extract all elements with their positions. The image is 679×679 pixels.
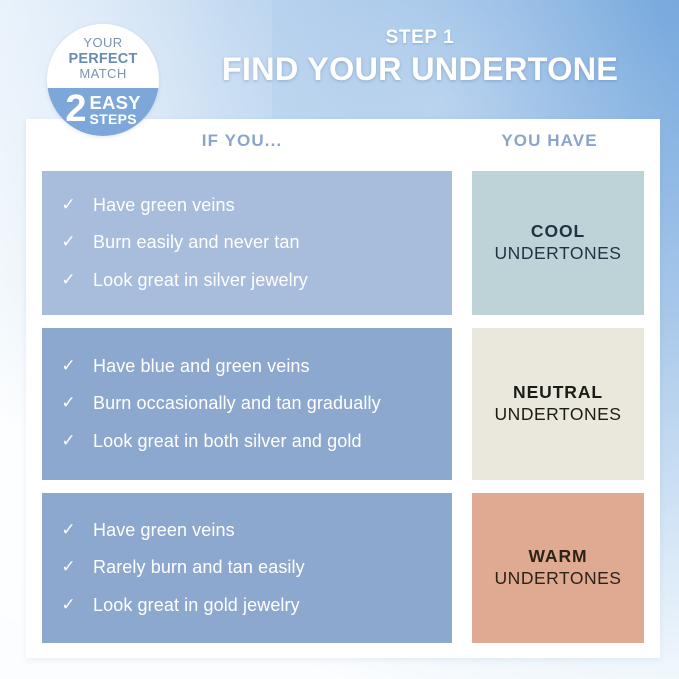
list-item-label: Burn occasionally and tan gradually <box>93 392 381 415</box>
page-title-block: STEP 1 FIND YOUR UNDERTONE <box>185 28 655 88</box>
check-icon: ✓ <box>60 231 77 252</box>
list-item: ✓ Look great in gold jewelry <box>60 587 436 624</box>
check-icon: ✓ <box>60 594 77 615</box>
badge-line-your: YOUR <box>83 36 122 51</box>
list-item: ✓ Rarely burn and tan easily <box>60 549 436 586</box>
badge-line-perfect: PERFECT <box>68 51 137 68</box>
list-item-label: Have green veins <box>93 194 235 217</box>
list-item: ✓ Have blue and green veins <box>60 348 436 385</box>
check-icon: ✓ <box>60 355 77 376</box>
swatch-sublabel: UNDERTONES <box>495 404 622 426</box>
list-item-label: Look great in gold jewelry <box>93 594 300 617</box>
badge-label-easy: EASY <box>89 94 140 112</box>
badge-easy-steps: EASY STEPS <box>89 94 140 127</box>
swatch-name: WARM <box>528 546 587 568</box>
list-item-label: Rarely burn and tan easily <box>93 556 305 579</box>
swatch-name: COOL <box>531 221 585 243</box>
check-icon: ✓ <box>60 430 77 451</box>
swatch-sublabel: UNDERTONES <box>495 568 622 590</box>
list-item: ✓ Burn occasionally and tan gradually <box>60 385 436 422</box>
list-item-label: Have blue and green veins <box>93 355 310 378</box>
list-item: ✓ Look great in silver jewelry <box>60 262 436 299</box>
undertone-swatch-warm: WARM UNDERTONES <box>472 493 644 643</box>
perfect-match-badge: YOUR PERFECT MATCH 2 EASY STEPS <box>47 24 159 136</box>
swatch-sublabel: UNDERTONES <box>495 243 622 265</box>
table-row: ✓ Have green veins ✓ Burn easily and nev… <box>42 171 644 315</box>
criteria-panel-cool: ✓ Have green veins ✓ Burn easily and nev… <box>42 171 452 315</box>
check-icon: ✓ <box>60 392 77 413</box>
list-item-label: Look great in silver jewelry <box>93 269 308 292</box>
table-row: ✓ Have blue and green veins ✓ Burn occas… <box>42 328 644 480</box>
check-icon: ✓ <box>60 269 77 290</box>
check-icon: ✓ <box>60 519 77 540</box>
list-item: ✓ Have green veins <box>60 512 436 549</box>
criteria-panel-warm: ✓ Have green veins ✓ Rarely burn and tan… <box>42 493 452 643</box>
criteria-panel-neutral: ✓ Have blue and green veins ✓ Burn occas… <box>42 328 452 480</box>
list-item-label: Look great in both silver and gold <box>93 430 362 453</box>
swatch-name: NEUTRAL <box>513 382 603 404</box>
undertone-card: IF YOU... YOU HAVE ✓ Have green veins ✓ … <box>26 119 660 658</box>
column-headers: IF YOU... YOU HAVE <box>26 131 660 165</box>
badge-label-steps: STEPS <box>89 112 136 127</box>
list-item-label: Have green veins <box>93 519 235 542</box>
undertone-swatch-neutral: NEUTRAL UNDERTONES <box>472 328 644 480</box>
list-item: ✓ Burn easily and never tan <box>60 224 436 261</box>
step-label: STEP 1 <box>185 28 655 49</box>
check-icon: ✓ <box>60 194 77 215</box>
undertone-swatch-cool: COOL UNDERTONES <box>472 171 644 315</box>
undertone-rows: ✓ Have green veins ✓ Burn easily and nev… <box>42 171 644 656</box>
table-row: ✓ Have green veins ✓ Rarely burn and tan… <box>42 493 644 643</box>
list-item: ✓ Have green veins <box>60 187 436 224</box>
check-icon: ✓ <box>60 556 77 577</box>
badge-bottom-half: 2 EASY STEPS <box>47 88 159 136</box>
column-header-you-have: YOU HAVE <box>462 131 637 151</box>
badge-top-half: YOUR PERFECT MATCH <box>47 24 159 88</box>
badge-step-count: 2 <box>65 94 86 125</box>
list-item-label: Burn easily and never tan <box>93 231 300 254</box>
list-item: ✓ Look great in both silver and gold <box>60 423 436 460</box>
page-title: FIND YOUR UNDERTONE <box>185 51 655 88</box>
badge-line-match: MATCH <box>79 67 126 82</box>
